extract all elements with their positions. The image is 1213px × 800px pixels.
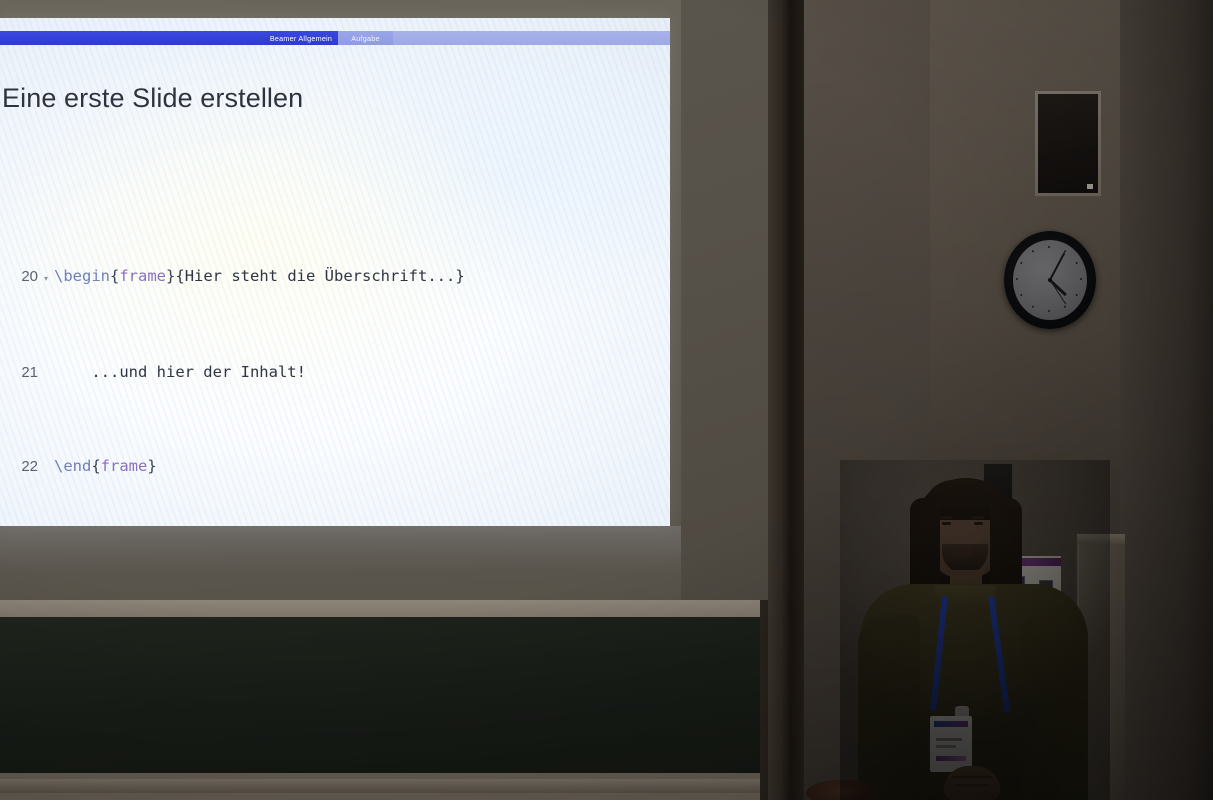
wall-pillar: [782, 0, 804, 800]
clock-tick: [1080, 278, 1082, 280]
clock-tick: [1032, 305, 1035, 308]
clock-tick: [1048, 246, 1050, 248]
nav-tab-label: Beamer Allgemein: [270, 34, 332, 43]
presenter: [856, 474, 1092, 800]
code-line: 22 \end{frame}: [4, 455, 670, 479]
presenter-eye-left: [942, 522, 951, 525]
code-line-content: \begin{frame}{Hier steht die Überschrift…: [54, 265, 465, 289]
code-line-number: 22: [4, 455, 38, 479]
clock-tick: [1048, 310, 1050, 312]
presenter-mouth: [954, 552, 972, 555]
code-token-brace: }: [147, 457, 156, 475]
navbar-fill-right: [393, 31, 670, 45]
code-fold-marker-icon[interactable]: ▾: [38, 267, 54, 291]
presenter-finger-line: [952, 776, 992, 778]
chalkboard: [0, 617, 780, 780]
code-token-brace: {: [91, 457, 100, 475]
badge-accent-bar: [936, 756, 966, 761]
code-token-plain: ...und hier der Inhalt!: [54, 363, 306, 381]
chalkboard-ledge: [0, 779, 780, 793]
code-line-number: 20: [4, 265, 38, 289]
clock-tick: [1016, 278, 1018, 280]
clock-tick: [1075, 262, 1078, 265]
clock-tick: [1075, 294, 1078, 297]
speaker-grille: [1038, 94, 1098, 193]
presenter-arm-right: [1022, 616, 1088, 800]
code-token-brace: }: [166, 267, 175, 285]
slide-navbar: Beamer Allgemein Aufgabe: [0, 31, 670, 45]
presenter-name-badge: [930, 716, 972, 772]
clock-tick: [1064, 305, 1067, 308]
navbar-fill-left: [0, 31, 264, 45]
code-token-brace: {: [110, 267, 119, 285]
badge-text-line: [936, 745, 956, 748]
presenter-hands: [944, 766, 1000, 800]
badge-text-line: [936, 738, 962, 741]
code-line-number: 21: [4, 361, 38, 385]
clock-tick: [1032, 250, 1035, 253]
code-line: 20 ▾ \begin{frame}{Hier steht die Übersc…: [4, 265, 670, 291]
lecture-room-scene: Beamer Allgemein Aufgabe Eine erste Slid…: [0, 0, 1213, 800]
clock-face: [1013, 240, 1087, 320]
projected-slide: Beamer Allgemein Aufgabe Eine erste Slid…: [0, 18, 670, 526]
clock-tick: [1020, 294, 1023, 297]
wall-clock: [1004, 231, 1096, 329]
code-token-command: \begin: [54, 267, 110, 285]
code-token-environment: frame: [119, 267, 166, 285]
code-line-content: \end{frame}: [54, 455, 157, 479]
code-token-plain: {Hier steht die Überschrift...}: [175, 267, 464, 285]
presenter-eye-right: [974, 522, 983, 525]
code-line-content: ...und hier der Inhalt!: [54, 361, 306, 385]
speaker-led-icon: [1087, 184, 1093, 189]
wall-right-edge: [1120, 0, 1213, 800]
nav-tab-beamer-allgemein[interactable]: Beamer Allgemein: [264, 31, 338, 45]
nav-tab-label: Aufgabe: [351, 34, 380, 43]
clock-tick: [1020, 262, 1023, 265]
code-line: 21 ...und hier der Inhalt!: [4, 361, 670, 385]
slide-title: Eine erste Slide erstellen: [2, 83, 670, 114]
clock-center-pin: [1048, 278, 1052, 282]
badge-logo-icon: [934, 721, 968, 727]
wall-speaker: [1035, 91, 1101, 196]
presenter-eyebrow-left: [940, 516, 952, 519]
foreground-person-head: [806, 780, 876, 800]
presenter-finger-line: [954, 784, 990, 786]
presenter-eyebrow-right: [972, 516, 984, 519]
clock-minute-hand: [1049, 252, 1065, 280]
code-token-environment: frame: [101, 457, 148, 475]
nav-tab-aufgabe[interactable]: Aufgabe: [338, 31, 393, 45]
code-token-command: \end: [54, 457, 91, 475]
presenter-arm-left: [858, 614, 920, 800]
projector-light-spill: [0, 526, 681, 602]
code-listing: 20 ▾ \begin{frame}{Hier steht die Übersc…: [4, 194, 670, 526]
